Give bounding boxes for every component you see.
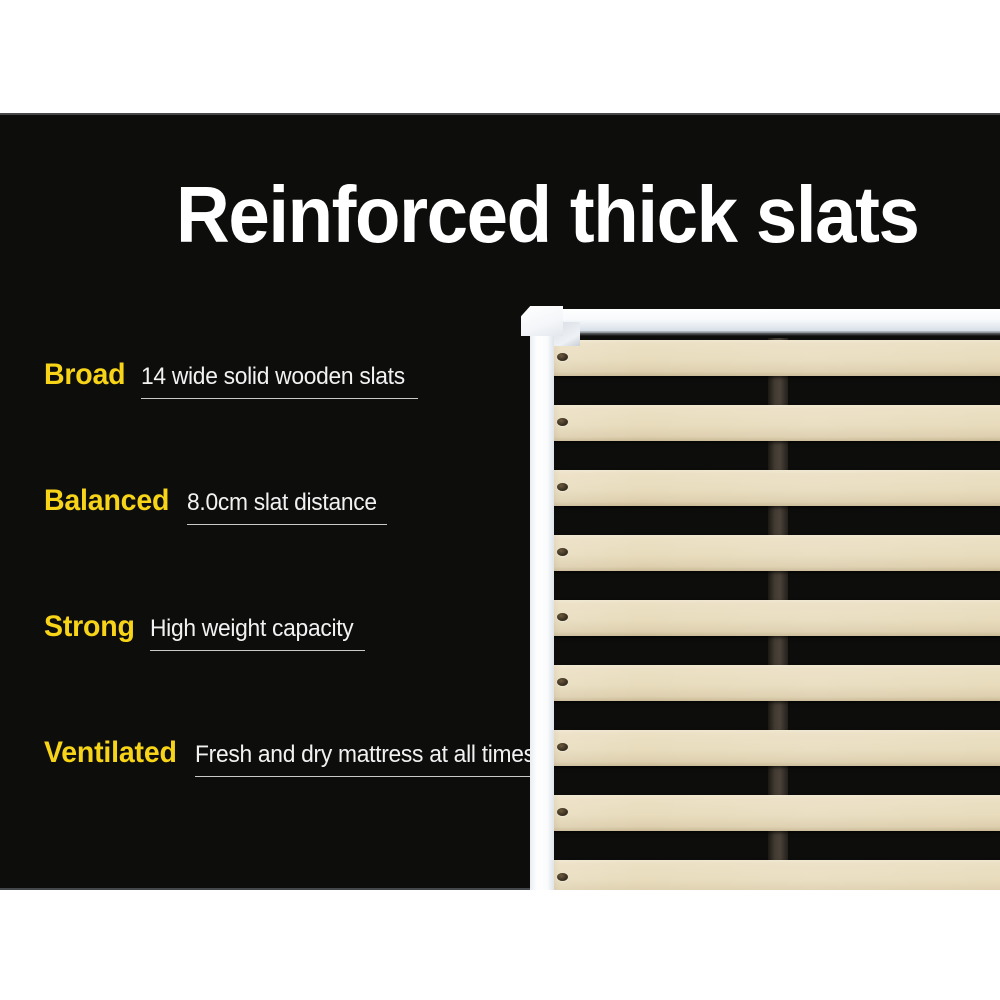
wooden-slat xyxy=(538,470,1000,506)
bed-frame-post-cap xyxy=(521,306,563,336)
feature-description-underline: High weight capacity xyxy=(150,615,364,651)
wooden-slat xyxy=(538,600,1000,636)
feature-description-underline: 14 wide solid wooden slats xyxy=(141,363,419,399)
feature-item-strong: Strong High weight capacity xyxy=(44,610,544,736)
feature-item-balanced: Balanced 8.0cm slat distance xyxy=(44,484,544,610)
feature-description: 8.0cm slat distance xyxy=(187,489,377,517)
feature-item-ventilated: Ventilated Fresh and dry mattress at all… xyxy=(44,736,544,862)
bed-frame-rail xyxy=(552,309,1000,333)
wooden-slat xyxy=(538,860,1000,890)
slat-screw xyxy=(557,353,568,361)
feature-description: High weight capacity xyxy=(150,615,353,643)
slat-screw xyxy=(557,743,568,751)
panel-top-divider xyxy=(0,113,1000,115)
feature-description: 14 wide solid wooden slats xyxy=(141,363,405,391)
wooden-slat xyxy=(538,795,1000,831)
product-photo-bed-slats xyxy=(512,298,1000,890)
feature-term: Ventilated xyxy=(44,736,177,770)
feature-description-underline: 8.0cm slat distance xyxy=(187,489,387,525)
feature-description-underline: Fresh and dry mattress at all times xyxy=(195,741,553,777)
feature-item-broad: Broad 14 wide solid wooden slats xyxy=(44,358,544,484)
slat-screw xyxy=(557,418,568,426)
slat-screw xyxy=(557,808,568,816)
feature-term: Balanced xyxy=(44,484,169,518)
slat-screw xyxy=(557,483,568,491)
slat-screw xyxy=(557,873,568,881)
feature-description: Fresh and dry mattress at all times xyxy=(195,741,535,769)
wooden-slat xyxy=(538,405,1000,441)
slat-screw xyxy=(557,678,568,686)
wooden-slat xyxy=(538,340,1000,376)
infographic-canvas: Reinforced thick slats Broad 14 wide sol… xyxy=(0,0,1000,1000)
slat-screw xyxy=(557,548,568,556)
bed-frame-rail-shadow xyxy=(552,331,1000,336)
feature-term: Strong xyxy=(44,610,135,644)
feature-list: Broad 14 wide solid wooden slats Balance… xyxy=(44,358,544,862)
slat-screw xyxy=(557,613,568,621)
bed-frame-post xyxy=(530,316,554,890)
wooden-slat xyxy=(538,665,1000,701)
feature-term: Broad xyxy=(44,358,125,392)
wooden-slat xyxy=(538,730,1000,766)
wooden-slat xyxy=(538,535,1000,571)
feature-panel: Reinforced thick slats Broad 14 wide sol… xyxy=(0,113,1000,890)
page-title: Reinforced thick slats xyxy=(176,171,918,259)
